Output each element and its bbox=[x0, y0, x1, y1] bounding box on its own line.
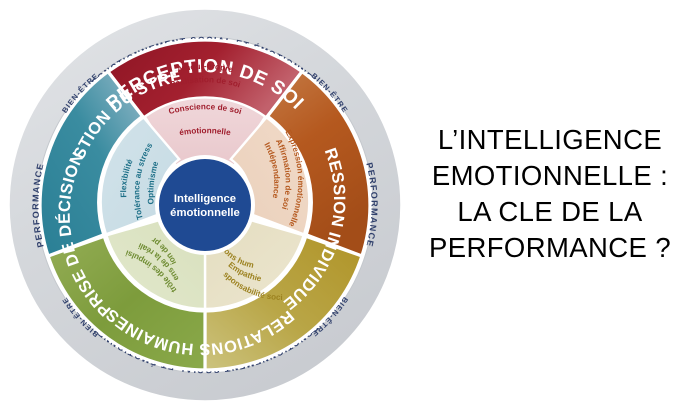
title-line-1: L’INTELLIGENCE bbox=[404, 122, 696, 158]
title-line-3: LA CLE DE LA bbox=[404, 194, 696, 230]
center-label-line2: émotionnelle bbox=[170, 207, 240, 219]
title-line-2: EMOTIONNELLE : bbox=[404, 158, 696, 194]
center-label-line1: Intelligence bbox=[174, 193, 236, 205]
wheel-svg: FONCTIONNEMENT SOCIAL ET ÉMOTIONNEL FONC… bbox=[0, 0, 410, 409]
page-title: L’INTELLIGENCE EMOTIONNELLE : LA CLE DE … bbox=[404, 122, 696, 266]
title-line-4: PERFORMANCE ? bbox=[404, 230, 696, 266]
center-circle[interactable] bbox=[159, 159, 251, 251]
emotional-intelligence-wheel: FONCTIONNEMENT SOCIAL ET ÉMOTIONNEL FONC… bbox=[0, 0, 410, 409]
